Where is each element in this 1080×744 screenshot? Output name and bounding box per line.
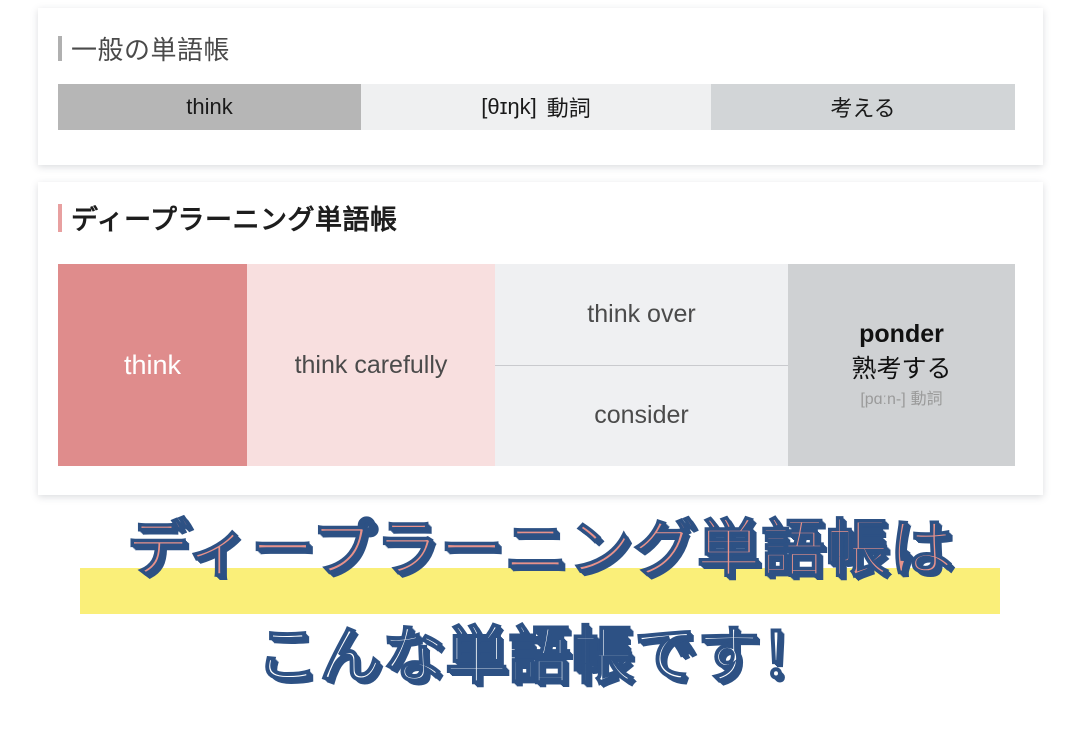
basic-cell-word: think [58,84,361,130]
deep-answer-pos-label: 動詞 [911,391,943,408]
deep-card-heading-label: ディープラーニング単語帳 [71,198,398,237]
deep-cell-source-word: think [58,264,247,466]
deep-synonym-second: consider [594,366,689,467]
deep-source-word-label: think [124,350,181,381]
basic-ipa-label: [θɪŋk] [481,94,537,120]
deep-synonym-first: think over [587,264,695,365]
heading-accent-bar-gray [58,36,62,61]
deep-card-heading: ディープラーニング単語帳 [58,198,398,237]
deep-paraphrase-label: think carefully [295,351,448,380]
deep-answer-japanese-label: 熟考する [851,354,951,385]
basic-cell-meaning: 考える [711,84,1015,130]
basic-word-label: think [186,94,232,120]
deep-cell-synonyms: think over consider [495,264,788,466]
deep-answer-meta: [pɑːn-]動詞 [860,390,942,411]
basic-pos-label: 動詞 [547,91,591,123]
basic-meaning-label: 考える [830,91,895,123]
basic-vocab-card: 一般の単語帳 think [θɪŋk] 動詞 考える [38,8,1043,165]
deep-synonym-first-label: think over [587,300,695,329]
deep-answer-ipa-label: [pɑːn-] [860,391,905,408]
deep-answer-word-label: ponder [859,319,944,350]
deep-learning-vocab-card: ディープラーニング単語帳 think think carefully think… [38,182,1043,495]
basic-card-heading-label: 一般の単語帳 [71,30,230,67]
deep-cell-paraphrase: think carefully [247,264,495,466]
headline-line-1: ディープラーニング単語帳は [0,512,1080,588]
headline-line-1-label: ディープラーニング単語帳は [126,519,953,581]
heading-accent-bar-pink [58,204,62,232]
deep-vocab-row: think think carefully think over conside… [58,264,1015,466]
basic-cell-meta: [θɪŋk] 動詞 [361,84,711,130]
basic-card-heading: 一般の単語帳 [58,30,230,67]
headline-line-2-label: こんな単語帳です！ [256,626,823,688]
page-root: 一般の単語帳 think [θɪŋk] 動詞 考える ディープラーニング単語帳 … [0,0,1080,744]
headline-line-2: こんな単語帳です！ [0,618,1080,696]
deep-synonym-second-label: consider [594,401,689,430]
bottom-headline: ディープラーニング単語帳は こんな単語帳です！ [0,512,1080,696]
deep-cell-answer: ponder 熟考する [pɑːn-]動詞 [788,264,1015,466]
basic-vocab-row: think [θɪŋk] 動詞 考える [58,84,1015,130]
